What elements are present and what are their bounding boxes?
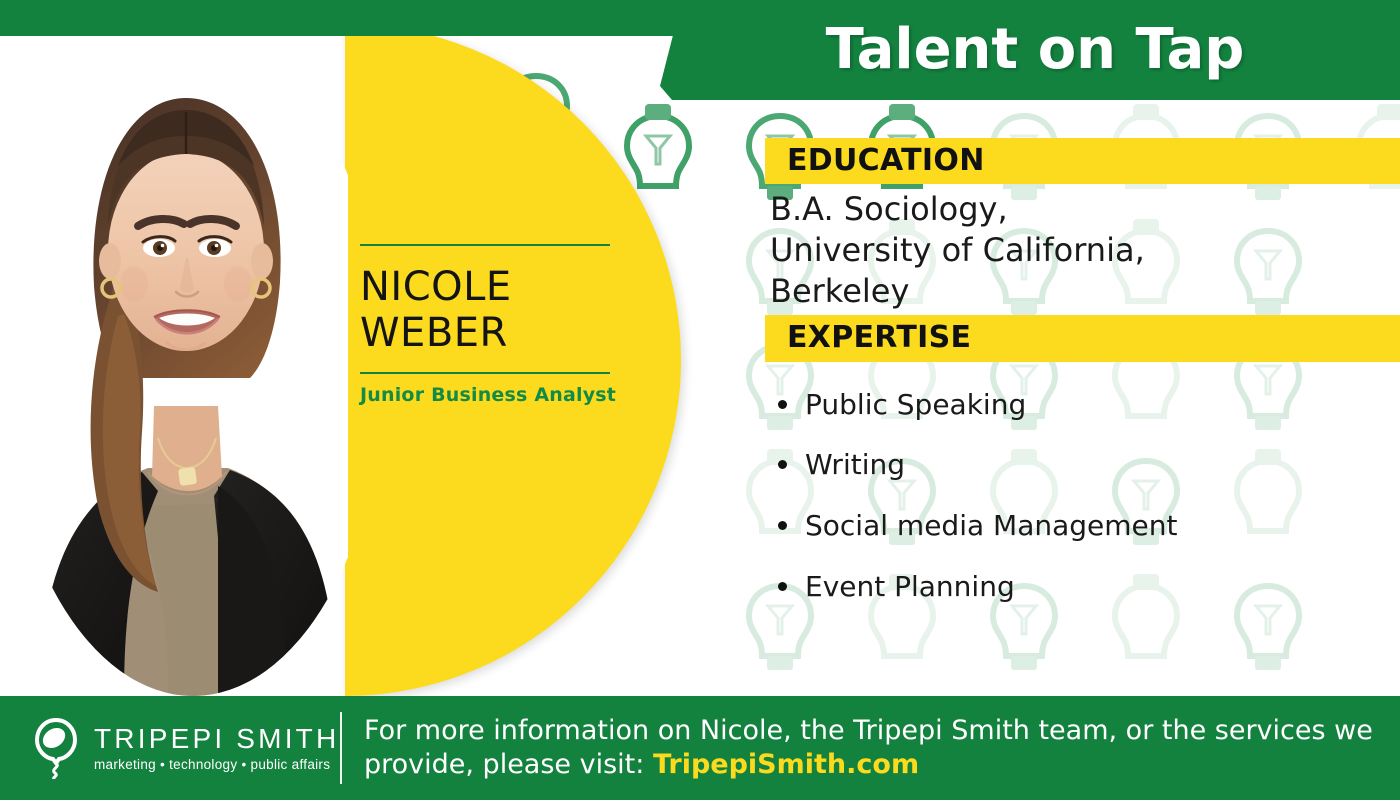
bullet-icon [778,460,787,469]
footer-bar: TRIPEPI SMITH marketing • technology • p… [0,696,1400,800]
expertise-list: Public Speaking Writing Social media Man… [765,362,1400,603]
brand-tagline: marketing • technology • public affairs [94,757,339,772]
person-job-title: Junior Business Analyst [360,384,620,406]
bullet-icon [778,521,787,530]
footer-message: For more information on Nicole, the Trip… [364,714,1400,782]
footer-divider [340,712,342,784]
person-name: NICOLE WEBER [360,264,620,356]
bullet-icon [778,582,787,591]
balloon-icon [30,717,82,779]
brand-logo: TRIPEPI SMITH marketing • technology • p… [0,717,340,779]
name-rule-bottom [360,372,610,374]
expertise-item-label: Event Planning [805,570,1015,603]
website-link[interactable]: TripepiSmith.com [653,749,919,780]
bullet-icon [778,400,787,409]
brand-name: TRIPEPI SMITH [94,724,339,753]
expertise-heading: EXPERTISE [787,322,1400,354]
education-body: B.A. Sociology, University of California… [765,184,1400,315]
list-item: Public Speaking [805,388,1400,422]
name-rule-top [360,244,610,246]
expertise-item-label: Public Speaking [805,388,1026,421]
list-item: Social media Management [805,509,1400,543]
expertise-item-label: Writing [805,448,905,481]
expertise-heading-bar: EXPERTISE [765,315,1400,361]
list-item: Event Planning [805,570,1400,604]
title-banner: Talent on Tap [600,0,1400,100]
education-heading-bar: EDUCATION [765,138,1400,184]
avatar [18,36,348,696]
page-title: Talent on Tap [826,22,1245,78]
info-column: EDUCATION B.A. Sociology, University of … [765,138,1400,630]
list-item: Writing [805,448,1400,482]
education-heading: EDUCATION [787,145,1400,177]
talent-on-tap-card: Talent on Tap [0,0,1400,800]
name-block: NICOLE WEBER Junior Business Analyst [360,244,620,406]
expertise-item-label: Social media Management [805,509,1177,542]
